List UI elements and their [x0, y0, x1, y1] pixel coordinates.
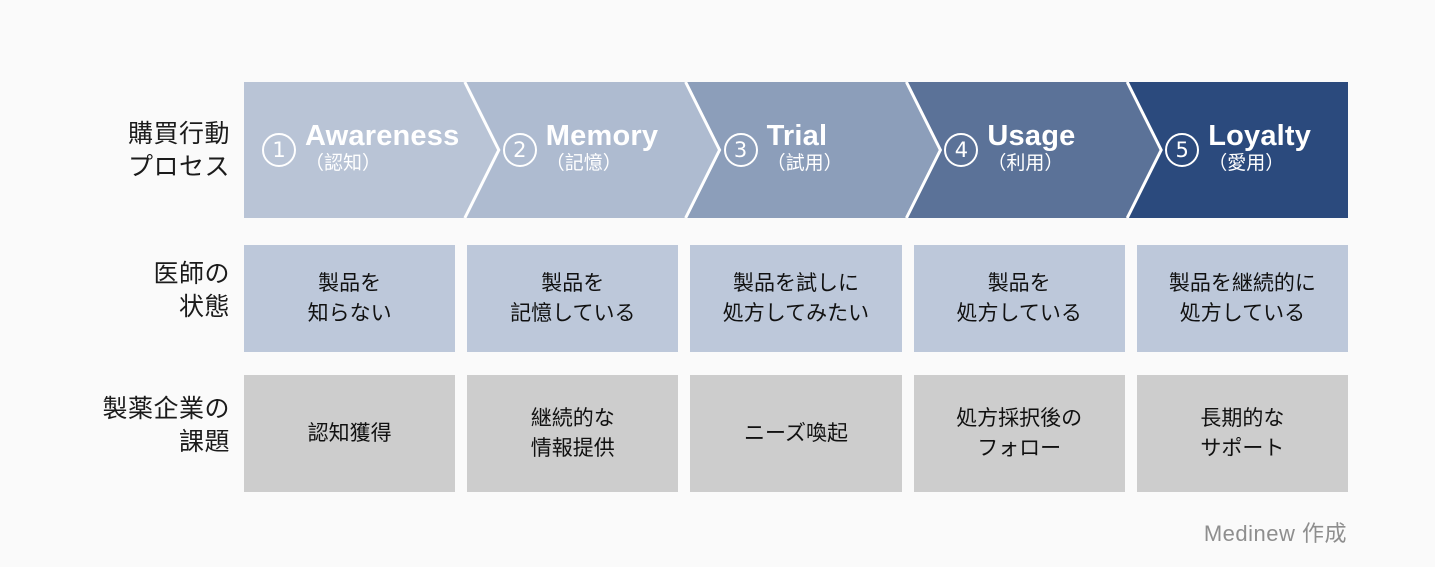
doctor-state-cell-5[interactable]: 製品を継続的に 処方している [1137, 245, 1348, 352]
pharma-task-cell-2[interactable]: 継続的な 情報提供 [467, 375, 678, 492]
funnel-stage-shape-4 [906, 82, 1161, 218]
row-label-doctor-state: 医師の 状態 [0, 258, 230, 324]
pharma-task-cell-5[interactable]: 長期的な サポート [1137, 375, 1348, 492]
funnel-chevron-band: 1Awareness（認知）2Memory（記憶）3Trial（試用）4Usag… [244, 82, 1348, 218]
funnel-stage-shape-1 [244, 82, 499, 218]
footer-credit: Medinew 作成 [1204, 516, 1347, 548]
doctor-state-cell-2[interactable]: 製品を 記憶している [467, 245, 678, 352]
funnel-stage-shape-2 [465, 82, 720, 218]
pharma-task-cell-3[interactable]: ニーズ喚起 [690, 375, 901, 492]
pharma-task-cell-1[interactable]: 認知獲得 [244, 375, 455, 492]
row-label-purchase-process: 購買行動 プロセス [0, 118, 230, 184]
doctor-state-cell-3[interactable]: 製品を試しに 処方してみたい [690, 245, 901, 352]
funnel-svg [244, 82, 1348, 218]
doctor-state-cell-1[interactable]: 製品を 知らない [244, 245, 455, 352]
row-label-pharma-task: 製薬企業の 課題 [0, 393, 230, 459]
purchase-behavior-process-diagram: 購買行動 プロセス 医師の 状態 製薬企業の 課題 1Awareness（認知）… [0, 0, 1435, 567]
pharma-task-cell-4[interactable]: 処方採択後の フォロー [914, 375, 1125, 492]
doctor-state-cell-4[interactable]: 製品を 処方している [914, 245, 1125, 352]
funnel-stage-shape-3 [686, 82, 941, 218]
